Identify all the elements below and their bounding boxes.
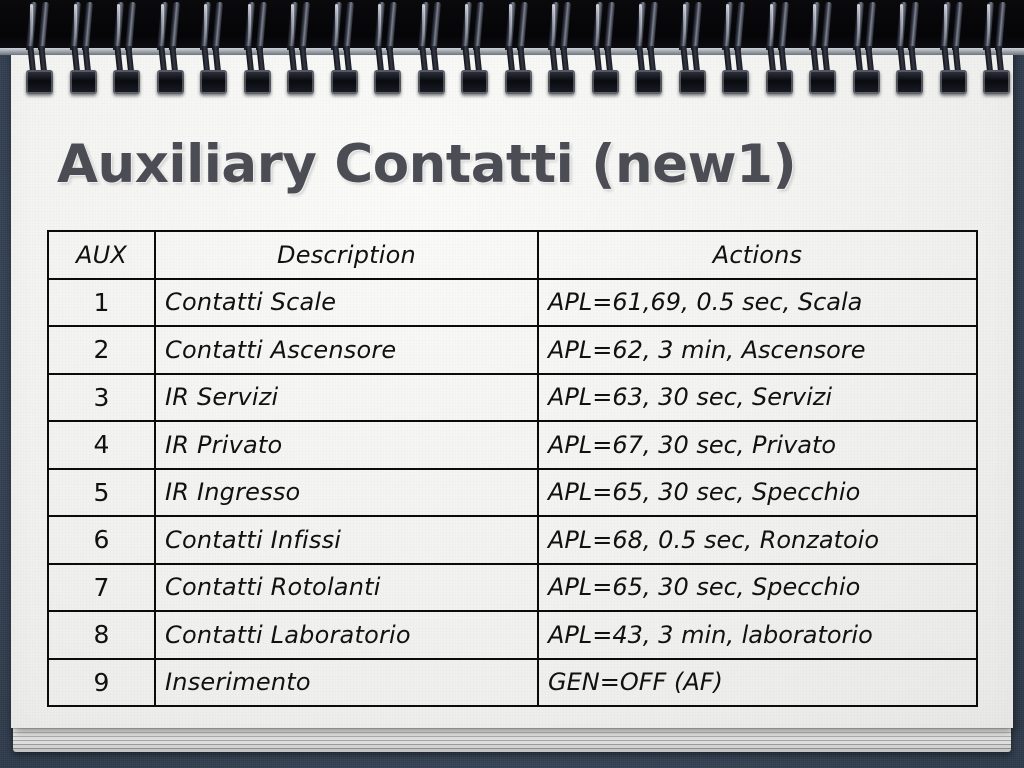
cell-aux: 8 <box>48 611 155 659</box>
cell-description: Contatti Infissi <box>155 516 538 564</box>
cell-aux: 7 <box>48 564 155 612</box>
cell-actions: APL=62, 3 min, Ascensore <box>538 326 977 374</box>
cell-actions: APL=65, 30 sec, Specchio <box>538 469 977 517</box>
cell-aux: 9 <box>48 659 155 707</box>
cell-aux: 6 <box>48 516 155 564</box>
binding-coil <box>242 0 276 98</box>
binding-coil <box>155 0 189 98</box>
table-row: 2 Contatti Ascensore APL=62, 3 min, Asce… <box>48 326 977 374</box>
table-row: 3 IR Servizi APL=63, 30 sec, Servizi <box>48 374 977 422</box>
binding-coil <box>285 0 319 98</box>
cell-description: IR Servizi <box>155 374 538 422</box>
cell-aux: 3 <box>48 374 155 422</box>
binding-coil <box>764 0 798 98</box>
cell-actions: APL=63, 30 sec, Servizi <box>538 374 977 422</box>
column-header-description: Description <box>155 231 538 279</box>
binding-coil <box>24 0 58 98</box>
binding-coil <box>894 0 928 98</box>
binding-coil <box>851 0 885 98</box>
notepad-page: Auxiliary Contatti (new1) AUX Descriptio… <box>11 0 1013 728</box>
table-row: 7 Contatti Rotolanti APL=65, 30 sec, Spe… <box>48 564 977 612</box>
binding-coil <box>503 0 537 98</box>
cell-description: Contatti Rotolanti <box>155 564 538 612</box>
table-row: 8 Contatti Laboratorio APL=43, 3 min, la… <box>48 611 977 659</box>
cell-description: Inserimento <box>155 659 538 707</box>
aux-table-body: 1 Contatti Scale APL=61,69, 0.5 sec, Sca… <box>48 279 977 707</box>
binding-coil <box>372 0 406 98</box>
cell-description: IR Privato <box>155 421 538 469</box>
binding-coil <box>677 0 711 98</box>
cell-actions: APL=43, 3 min, laboratorio <box>538 611 977 659</box>
cell-aux: 5 <box>48 469 155 517</box>
page-title: Auxiliary Contatti (new1) <box>57 133 977 197</box>
table-row: 6 Contatti Infissi APL=68, 0.5 sec, Ronz… <box>48 516 977 564</box>
cell-actions: APL=67, 30 sec, Privato <box>538 421 977 469</box>
spiral-binding-icon <box>0 0 1024 100</box>
table-row: 1 Contatti Scale APL=61,69, 0.5 sec, Sca… <box>48 279 977 327</box>
cell-description: Contatti Ascensore <box>155 326 538 374</box>
notepad: Auxiliary Contatti (new1) AUX Descriptio… <box>11 0 1013 752</box>
binding-coil <box>981 0 1015 98</box>
cell-description: Contatti Laboratorio <box>155 611 538 659</box>
column-header-aux: AUX <box>48 231 155 279</box>
cell-description: IR Ingresso <box>155 469 538 517</box>
binding-coil <box>111 0 145 98</box>
cell-aux: 1 <box>48 279 155 327</box>
binding-coil <box>68 0 102 98</box>
aux-table-container: AUX Description Actions 1 Contatti Scale… <box>47 230 976 707</box>
cell-description: Contatti Scale <box>155 279 538 327</box>
table-row: 5 IR Ingresso APL=65, 30 sec, Specchio <box>48 469 977 517</box>
binding-coil <box>459 0 493 98</box>
binding-coil <box>590 0 624 98</box>
table-row: 4 IR Privato APL=67, 30 sec, Privato <box>48 421 977 469</box>
cell-aux: 4 <box>48 421 155 469</box>
cell-aux: 2 <box>48 326 155 374</box>
cell-actions: APL=68, 0.5 sec, Ronzatoio <box>538 516 977 564</box>
cell-actions: APL=61,69, 0.5 sec, Scala <box>538 279 977 327</box>
paper-stack-edges <box>13 724 1011 752</box>
cell-actions: APL=65, 30 sec, Specchio <box>538 564 977 612</box>
binding-coil <box>720 0 754 98</box>
slide-canvas: Auxiliary Contatti (new1) AUX Descriptio… <box>0 0 1024 768</box>
binding-coil <box>416 0 450 98</box>
binding-coil <box>198 0 232 98</box>
binding-coil <box>329 0 363 98</box>
column-header-actions: Actions <box>538 231 977 279</box>
binding-coil <box>807 0 841 98</box>
binding-coil <box>938 0 972 98</box>
table-header-row: AUX Description Actions <box>48 231 977 279</box>
aux-table: AUX Description Actions 1 Contatti Scale… <box>47 230 978 707</box>
binding-coil <box>633 0 667 98</box>
binding-coil <box>546 0 580 98</box>
table-row: 9 Inserimento GEN=OFF (AF) <box>48 659 977 707</box>
cell-actions: GEN=OFF (AF) <box>538 659 977 707</box>
